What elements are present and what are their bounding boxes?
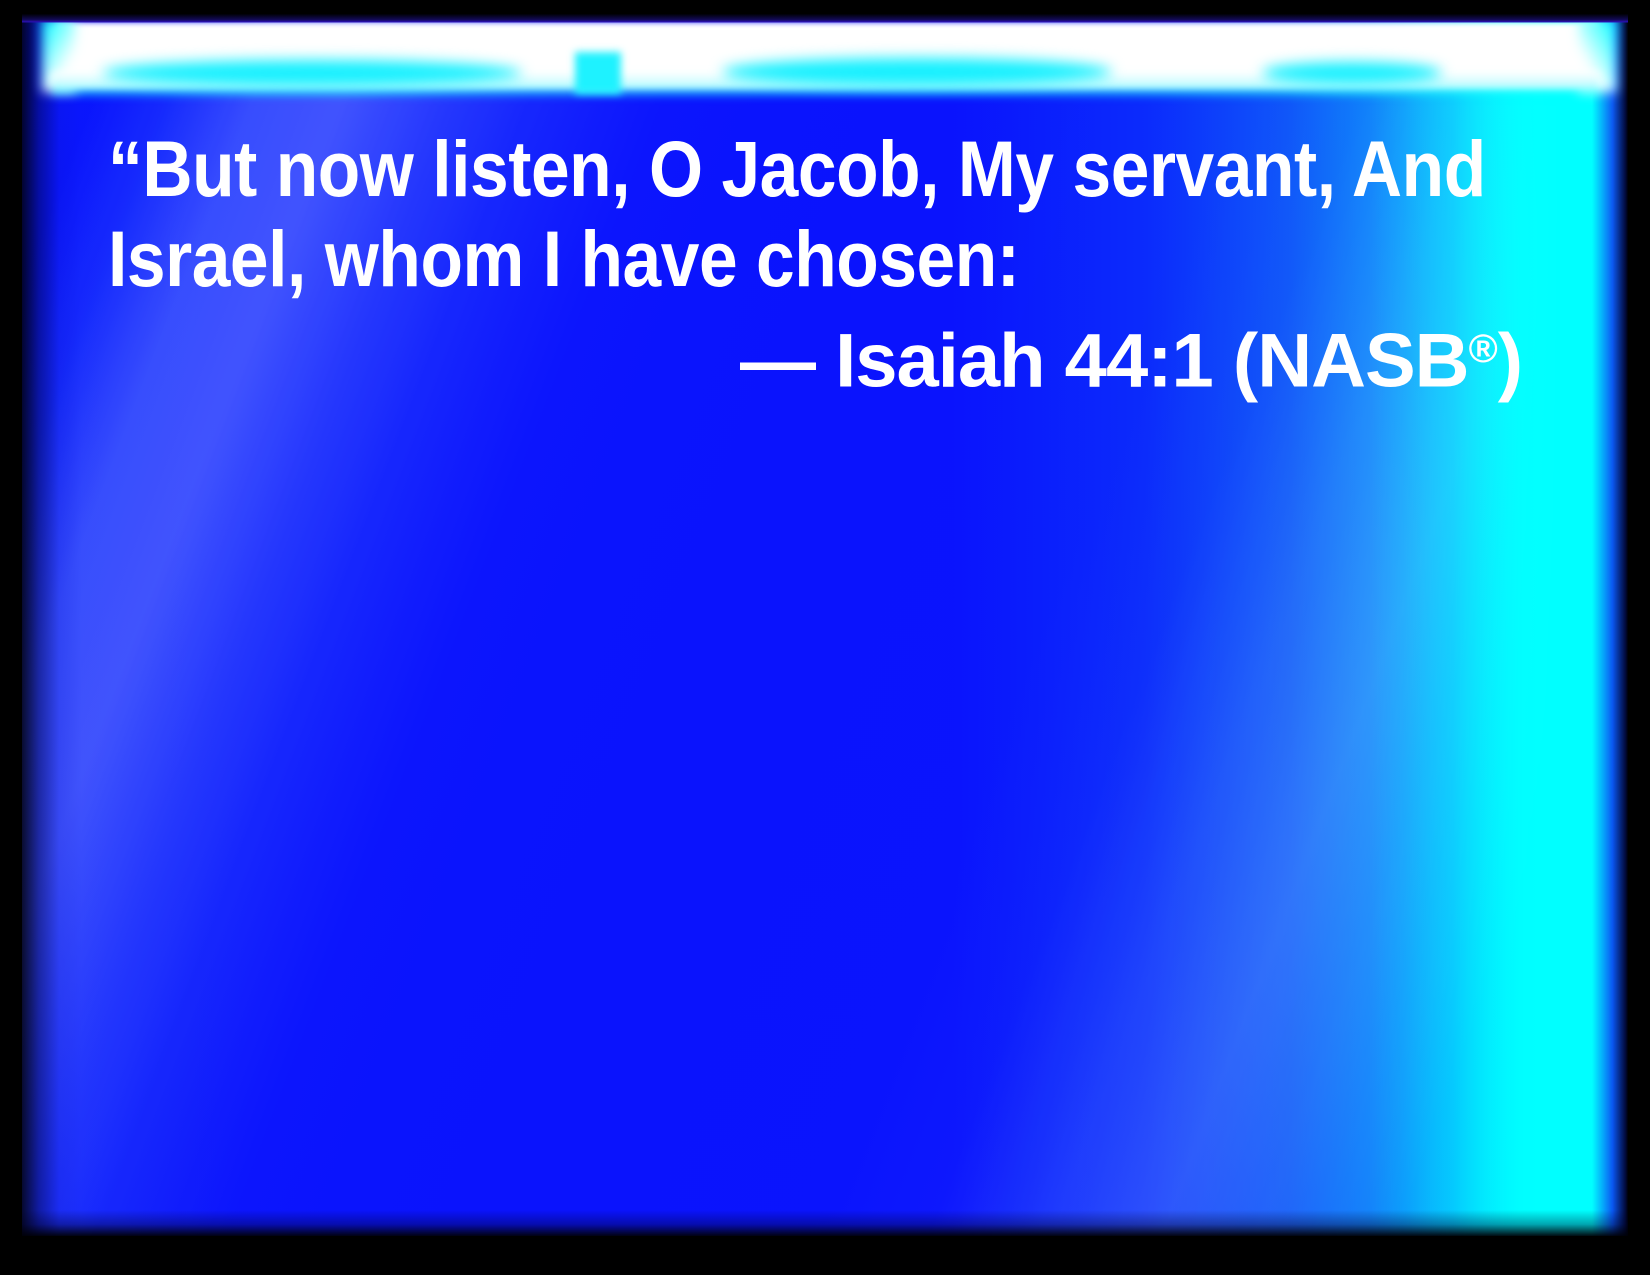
verse-line-1: “But now listen, O Jacob, My servant, An… xyxy=(108,124,1486,214)
verse-line-2: Israel, whom I have chosen: xyxy=(108,214,1020,304)
scripture-slide: “But now listen, O Jacob, My servant, An… xyxy=(0,0,1650,1275)
citation-reference: — Isaiah 44:1 (NASB xyxy=(740,319,1469,404)
citation-close-paren: ) xyxy=(1498,319,1522,404)
background-left-shadow xyxy=(22,14,82,1236)
background-bottom-shadow xyxy=(22,1210,1628,1236)
scripture-citation: — Isaiah 44:1 (NASB®) xyxy=(22,304,1522,407)
slide-canvas: “But now listen, O Jacob, My servant, An… xyxy=(22,14,1628,1236)
registered-trademark-icon: ® xyxy=(1469,327,1498,371)
